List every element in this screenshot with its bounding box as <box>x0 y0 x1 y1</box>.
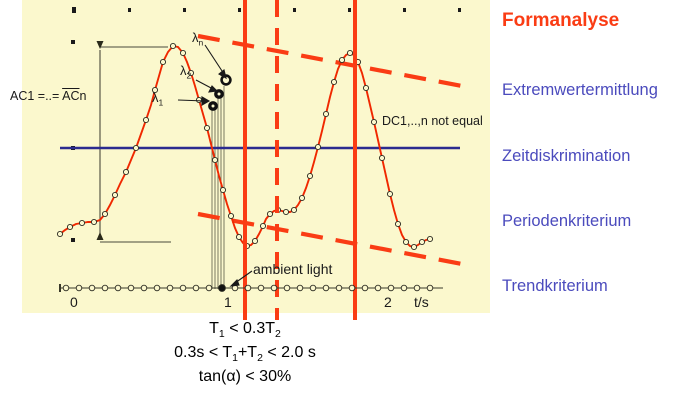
lambda-1-label: λ1 <box>152 90 163 108</box>
formula-line-2: 0.3s < T1+T2 < 2.0 s <box>0 342 490 366</box>
lambda-2-subscript: 2 <box>187 71 192 81</box>
criterion-periodenkriterium[interactable]: Periodenkriterium <box>502 212 631 231</box>
y-axis-ticks <box>71 40 75 242</box>
dc-not-equal-annotation: DC1,..,n not equal <box>382 114 483 128</box>
lambda-1-subscript: 1 <box>159 98 164 108</box>
ac-equal-suffix: n <box>80 89 87 103</box>
formula-2-b: +T <box>238 344 257 361</box>
extrema-markers <box>209 76 231 111</box>
criterion-trendkriterium[interactable]: Trendkriterium <box>502 277 608 296</box>
top-tick-row <box>72 7 461 13</box>
lambda-n-label: λn <box>192 30 203 48</box>
formula-line-3: tan(α) < 30% <box>0 366 490 388</box>
figure-root: AC1 =..= ACn DC1,..,n not equal ambient … <box>0 0 697 407</box>
x-tick-label-2: 2 <box>384 294 392 310</box>
formula-1-op: < 0.3T <box>225 320 275 337</box>
x-tick-label-1: 1 <box>224 294 232 310</box>
criterion-extremwertermittlung[interactable]: Extremwertermittlung <box>502 81 658 100</box>
ambient-light-annotation: ambient light <box>253 261 332 277</box>
lambda-2-label: λ2 <box>180 63 191 81</box>
ac-equal-annotation: AC1 =..= ACn <box>10 89 86 103</box>
ac-equal-prefix: AC1 =..= <box>10 89 62 103</box>
formula-1-sub2: 2 <box>275 328 281 340</box>
ambient-light-leader <box>231 271 252 286</box>
formula-block: T1 < 0.3T2 0.3s < T1+T2 < 2.0 s tan(α) <… <box>0 318 490 388</box>
analysis-title: Formanalyse <box>502 10 619 32</box>
x-tick-label-0: 0 <box>70 294 78 310</box>
ac-equal-overline: AC <box>62 89 79 103</box>
formula-2-a: 0.3s < T <box>174 344 232 361</box>
criterion-zeitdiskrimination[interactable]: Zeitdiskrimination <box>502 147 630 166</box>
formula-2-c: < 2.0 s <box>263 344 316 361</box>
formula-line-1: T1 < 0.3T2 <box>0 318 490 342</box>
x-axis-unit-label: t/s <box>414 294 429 310</box>
upper-envelope-trend-line <box>198 36 462 86</box>
lambda-n-subscript: n <box>199 38 204 48</box>
formula-1-t: T <box>209 320 219 337</box>
